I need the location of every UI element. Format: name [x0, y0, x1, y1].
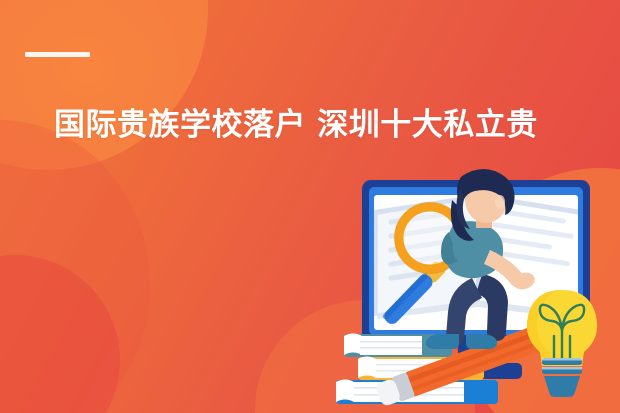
background-circle-bottom-left: [0, 255, 120, 413]
e-learning-research-illustration: [330, 158, 620, 413]
background-circle-left: [0, 120, 150, 413]
promo-banner: 国际贵族学校落户 深圳十大私立贵: [0, 0, 620, 413]
banner-headline: 国际贵族学校落户 深圳十大私立贵: [54, 104, 620, 146]
decorative-divider-rule: [25, 52, 90, 57]
idea-lightbulb: [527, 290, 597, 397]
